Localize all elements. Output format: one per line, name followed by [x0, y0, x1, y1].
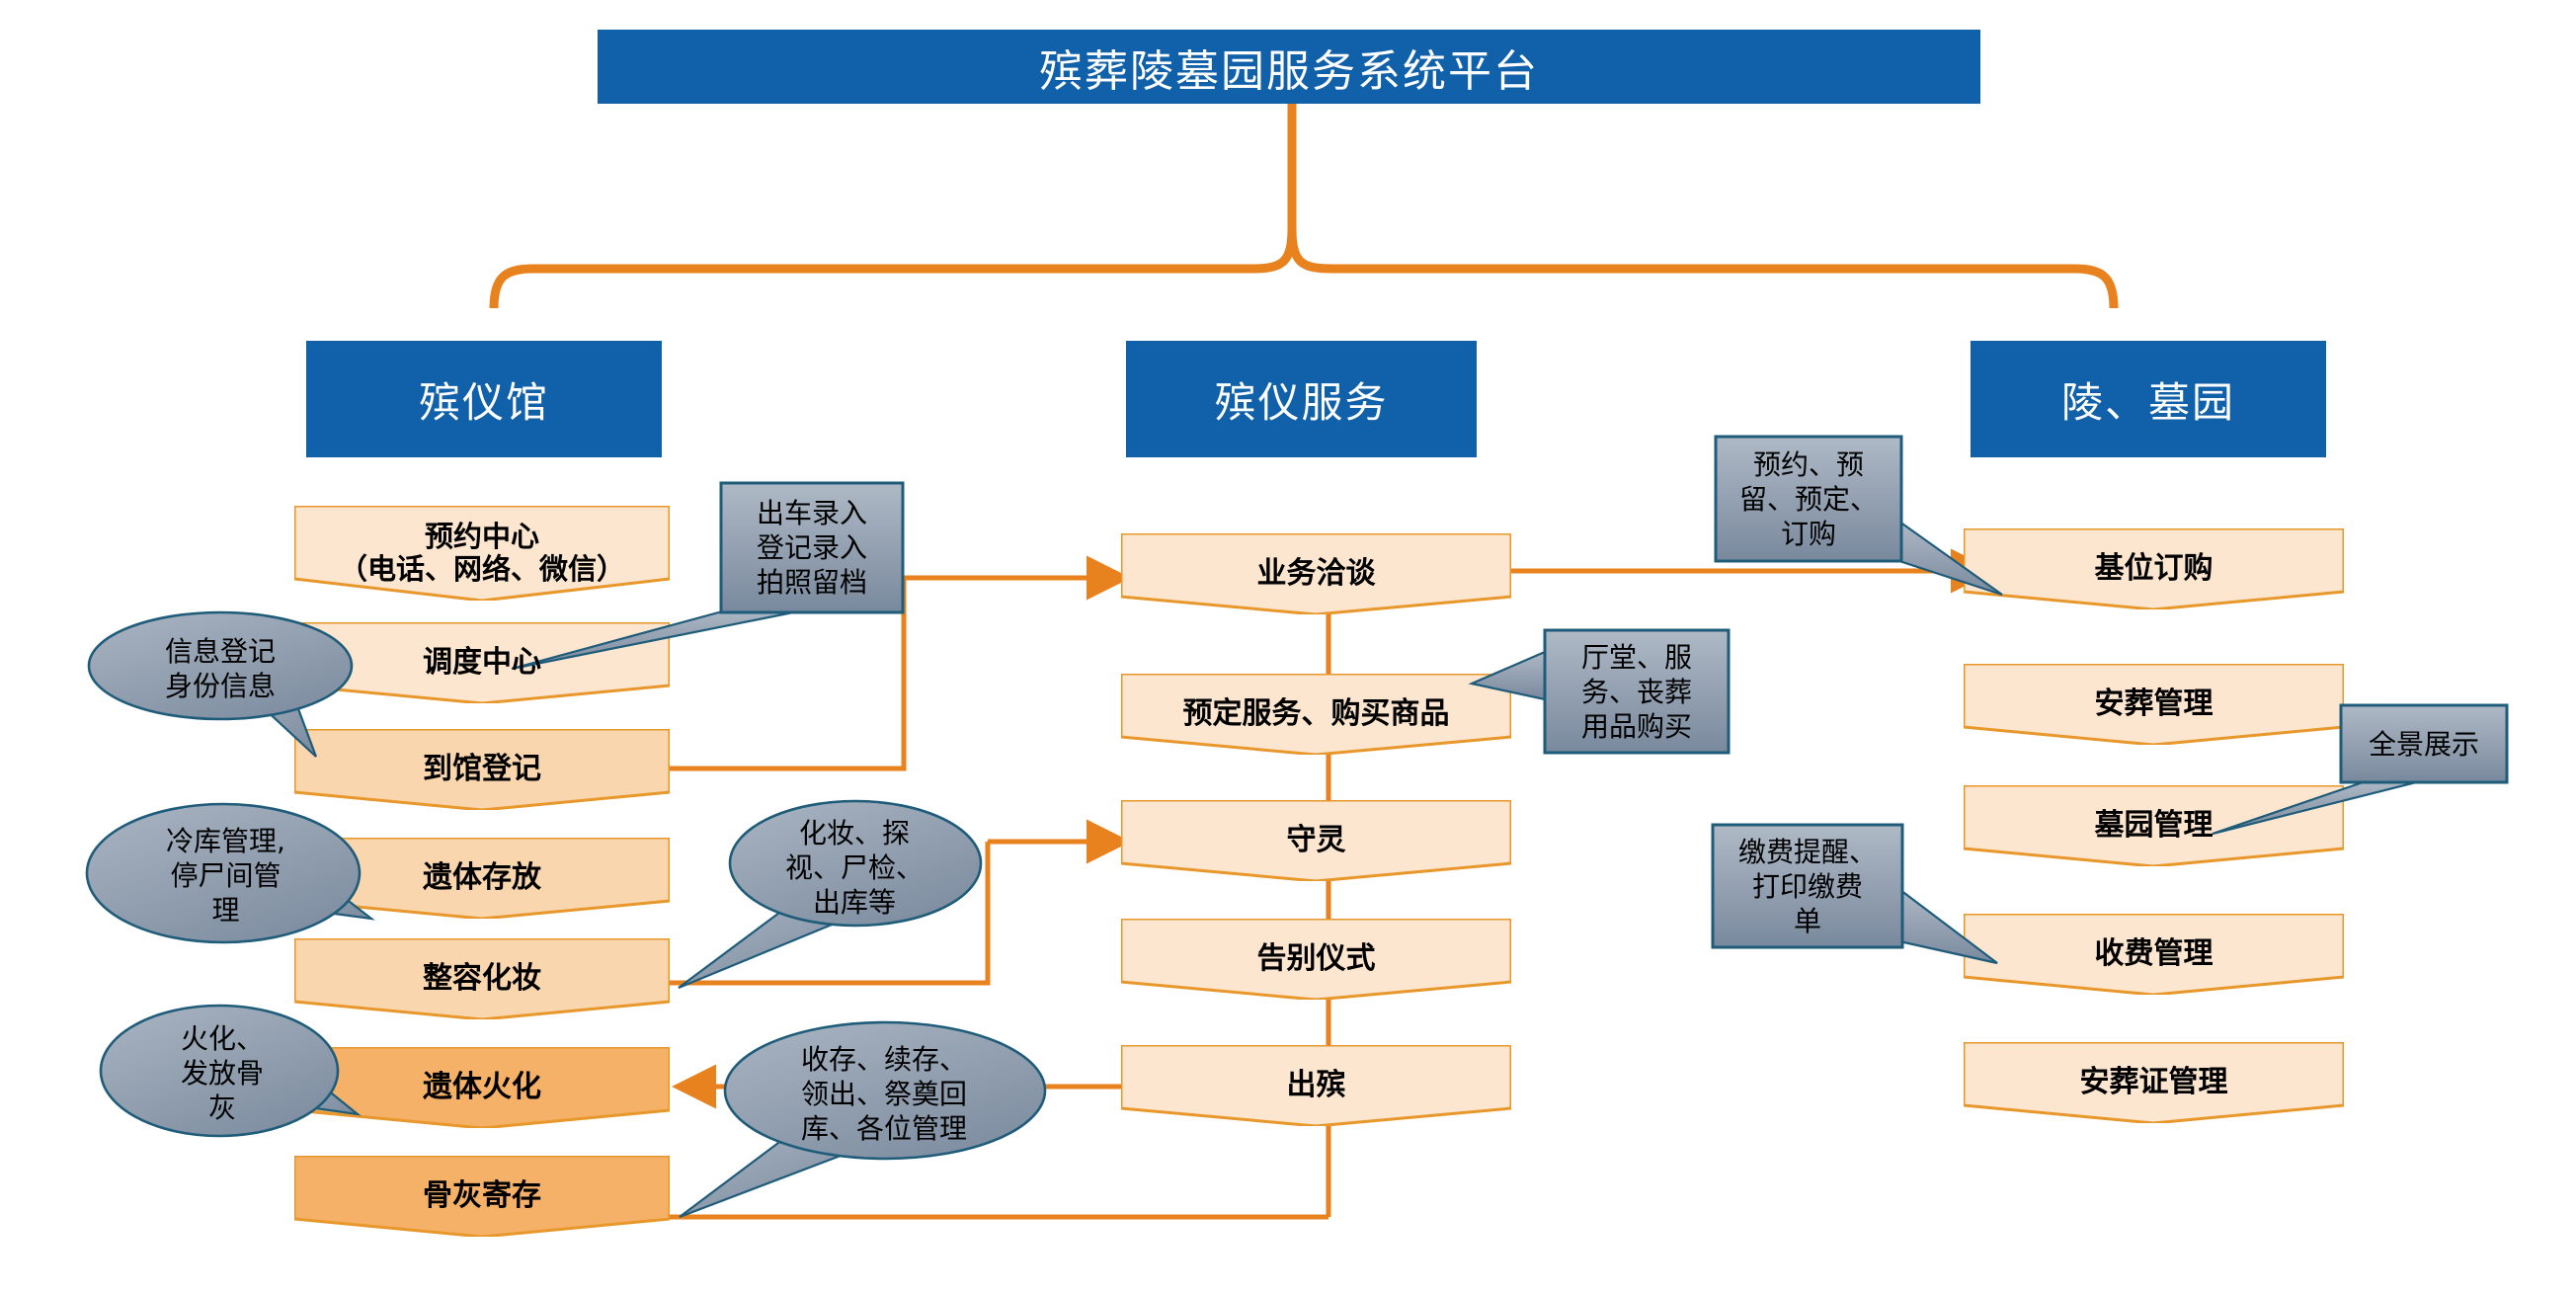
callout-cold-storage[interactable]: 冷库管理,停尸间管理: [85, 802, 366, 948]
node-label: 收费管理: [2089, 937, 2219, 972]
node-label: 出殡: [1281, 1069, 1352, 1103]
node-label: 预约中心（电话、网络、微信）: [333, 521, 631, 587]
platform-title: 殡葬陵墓园服务系统平台: [598, 30, 1980, 104]
diagram-canvas: 殡葬陵墓园服务系统平台 殡仪馆 殡仪服务 陵、墓园 预约中心（电话、网络、微信）…: [0, 0, 2576, 1294]
callout-text: 化妆、探视、尸检、出库等: [777, 816, 931, 920]
callout-text: 冷库管理,停尸间管理: [158, 824, 293, 928]
node-wake[interactable]: 守灵: [1121, 800, 1511, 881]
callout-text: 出车录入登记录入拍照留档: [749, 496, 875, 600]
node-cosmetology[interactable]: 整容化妆: [294, 938, 670, 1019]
node-farewell-ceremony[interactable]: 告别仪式: [1121, 919, 1511, 1000]
node-label: 到馆登记: [417, 753, 547, 787]
callout-panorama[interactable]: 全景展示: [2339, 703, 2509, 784]
node-grave-purchase[interactable]: 基位订购: [1964, 528, 2344, 609]
column-header-funeral-home: 殡仪馆: [306, 341, 662, 457]
column-header-cemetery: 陵、墓园: [1971, 341, 2326, 457]
node-label: 调度中心: [417, 646, 547, 681]
callout-payment-reminder[interactable]: 缴费提醒、打印缴费单: [1711, 823, 1904, 949]
node-cremation[interactable]: 遗体火化: [294, 1047, 670, 1128]
node-label: 安葬证管理: [2074, 1066, 2234, 1100]
node-label: 守灵: [1281, 824, 1352, 858]
node-burial-management[interactable]: 安葬管理: [1964, 664, 2344, 745]
node-label: 告别仪式: [1251, 942, 1382, 977]
node-funeral-procession[interactable]: 出殡: [1121, 1045, 1511, 1126]
node-label: 基位订购: [2089, 552, 2219, 587]
callout-hall-service-goods[interactable]: 厅堂、服务、丧葬用品购买: [1543, 628, 1731, 755]
node-label: 业务洽谈: [1251, 557, 1382, 592]
callout-ash-storage-ops[interactable]: 收存、续存、领出、祭奠回库、各位管理: [721, 1019, 1047, 1168]
callout-text: 全景展示: [2361, 727, 2487, 762]
node-appointment-center[interactable]: 预约中心（电话、网络、微信）: [294, 506, 670, 601]
column-header-funeral-service: 殡仪服务: [1126, 341, 1477, 457]
callout-dispatch-entry[interactable]: 出车录入登记录入拍照留档: [719, 481, 905, 614]
node-label: 整容化妆: [417, 962, 547, 997]
node-cemetery-management[interactable]: 墓园管理: [1964, 785, 2344, 866]
node-label: 安葬管理: [2089, 687, 2219, 722]
node-label: 遗体存放: [417, 861, 547, 896]
node-label: 遗体火化: [417, 1071, 547, 1105]
node-business-consult[interactable]: 业务洽谈: [1121, 533, 1511, 614]
callout-cremation-ashes[interactable]: 火化、发放骨灰: [99, 1004, 346, 1142]
node-fee-management[interactable]: 收费管理: [1964, 914, 2344, 995]
callout-booking-reserve[interactable]: 预约、预留、预定、订购: [1714, 435, 1903, 563]
node-label: 墓园管理: [2089, 809, 2219, 844]
node-reserve-service-purchase[interactable]: 预定服务、购买商品: [1121, 674, 1511, 755]
callout-makeup-viewing[interactable]: 化妆、探视、尸检、出库等: [726, 798, 983, 936]
node-label: 骨灰寄存: [417, 1179, 547, 1214]
callout-text: 厅堂、服务、丧葬用品购买: [1573, 640, 1700, 744]
callout-text: 预约、预留、预定、订购: [1731, 447, 1886, 551]
node-arrival-registration[interactable]: 到馆登记: [294, 729, 670, 810]
callout-text: 信息登记身份信息: [157, 634, 283, 703]
callout-text: 收存、续存、领出、祭奠回库、各位管理: [793, 1042, 975, 1146]
callout-info-registration[interactable]: 信息登记身份信息: [87, 610, 354, 727]
callout-text: 火化、发放骨灰: [173, 1021, 272, 1125]
callout-text: 缴费提醒、打印缴费单: [1731, 835, 1885, 938]
node-burial-certificate[interactable]: 安葬证管理: [1964, 1042, 2344, 1123]
node-label: 预定服务、购买商品: [1177, 697, 1456, 732]
node-ash-storage[interactable]: 骨灰寄存: [294, 1156, 670, 1237]
